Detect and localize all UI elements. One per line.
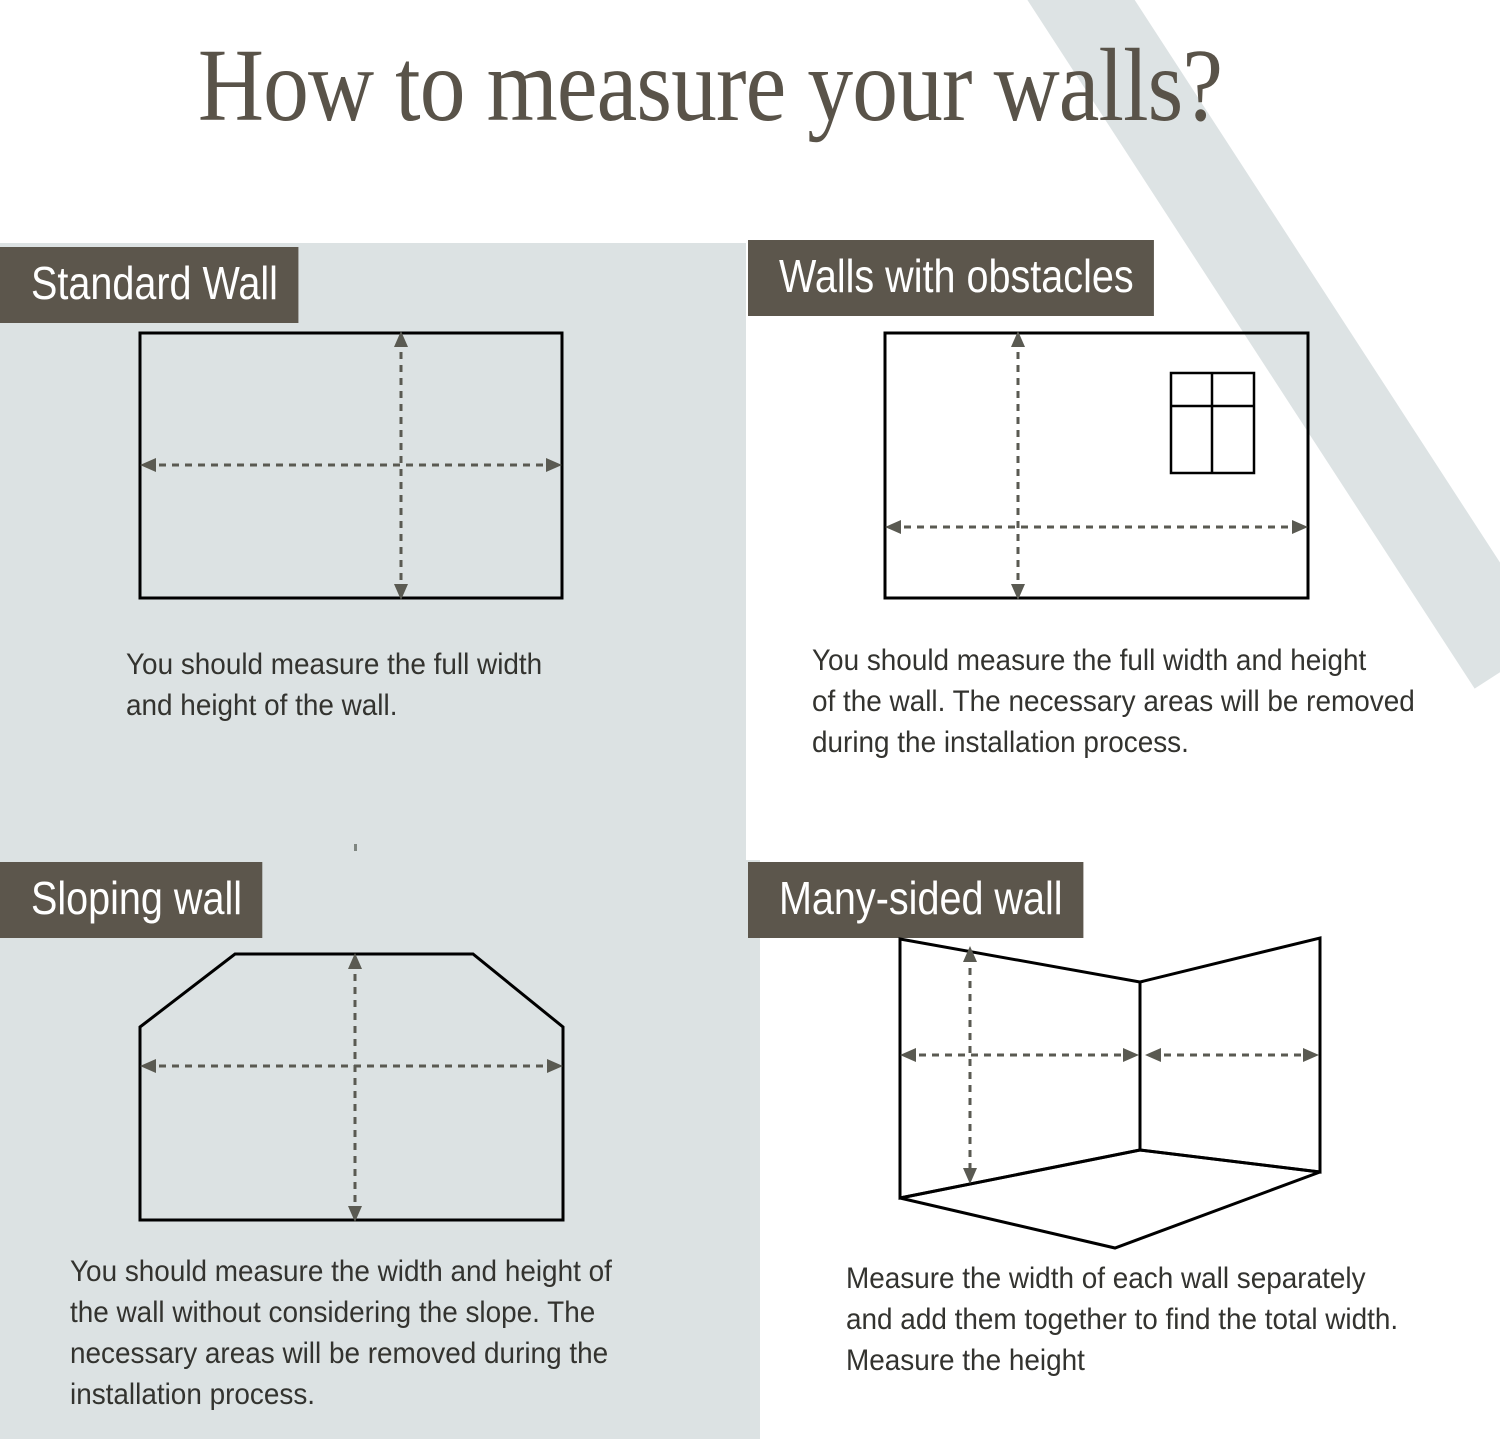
floor-panel (900, 1150, 1320, 1248)
height-arrow (1011, 331, 1025, 600)
section-header-sloping-wall: Sloping wall (0, 862, 263, 938)
left-wall-panel (900, 939, 1140, 1198)
decorative-speck (354, 844, 357, 851)
diagram-wall-with-obstacles (865, 315, 1335, 615)
section-body-standard-wall: You should measure the full width and he… (126, 644, 647, 726)
right-wall-width-arrow (1145, 1048, 1319, 1062)
section-header-standard-wall: Standard Wall (0, 247, 299, 323)
section-body-walls-with-obstacles: You should measure the full width and he… (812, 640, 1444, 763)
tinted-panel-bottom-strip (746, 860, 760, 1439)
diagram-many-sided-wall (870, 920, 1350, 1265)
left-wall-width-arrow (900, 1048, 1139, 1062)
height-arrow (348, 953, 362, 1222)
width-arrow (140, 458, 562, 472)
section-header-walls-with-obstacles: Walls with obstacles (748, 240, 1154, 316)
diagram-standard-wall (120, 315, 590, 615)
section-body-sloping-wall: You should measure the width and height … (70, 1251, 647, 1415)
width-arrow (885, 520, 1308, 534)
diagram-sloping-wall (120, 935, 590, 1245)
page-title: How to measure your walls? (85, 28, 1335, 144)
width-arrow (140, 1059, 563, 1073)
infographic-page: How to measure your walls? Standard Wall… (0, 0, 1500, 1439)
window-icon (1171, 373, 1254, 473)
section-body-many-sided-wall: Measure the width of each wall separatel… (846, 1258, 1423, 1381)
wall-outline-chamfered (140, 954, 563, 1220)
height-arrow (963, 946, 977, 1184)
